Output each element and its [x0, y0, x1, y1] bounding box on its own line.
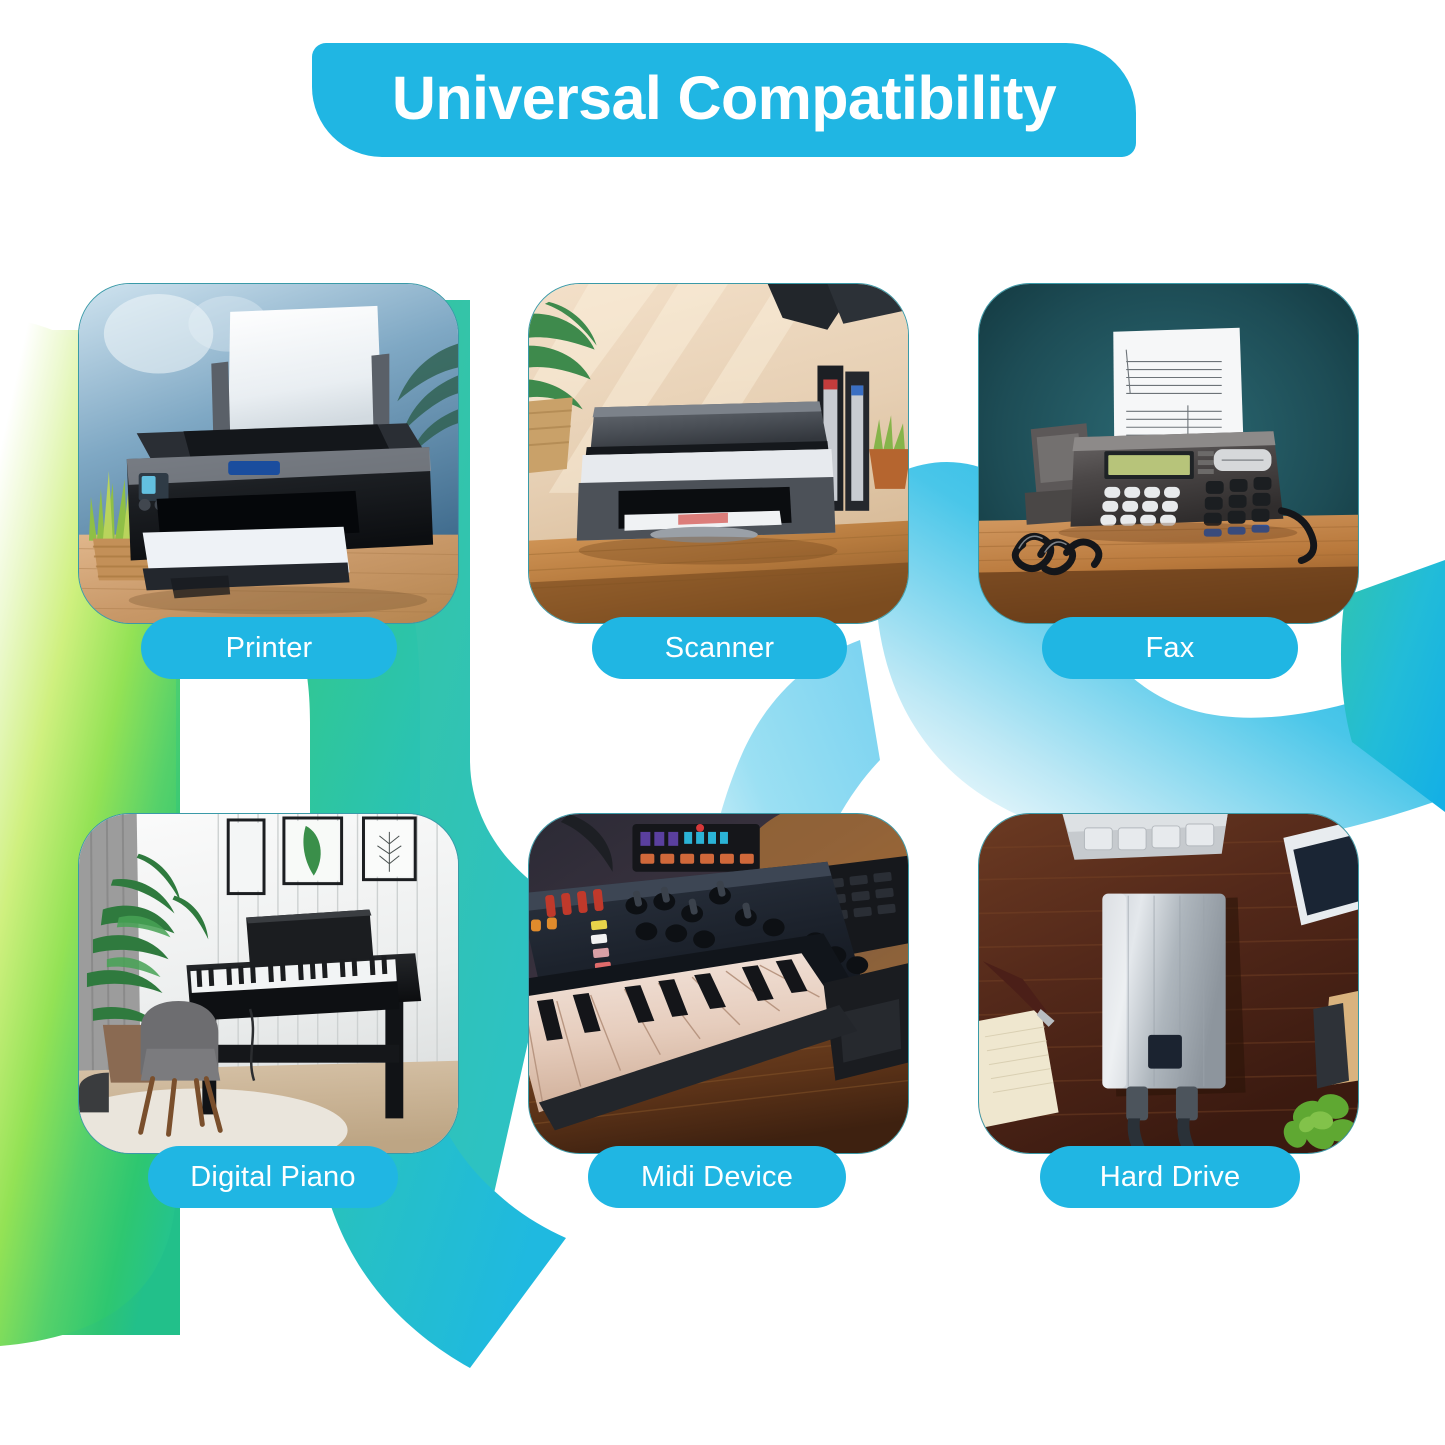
hard-drive-icon [979, 814, 1358, 1153]
card-midi-device[interactable] [528, 813, 909, 1154]
card-label-text: Scanner [665, 632, 774, 665]
card-label-scanner[interactable]: Scanner [592, 617, 847, 679]
compatibility-card-grid: Printer [0, 0, 1445, 1445]
card-label-digital-piano[interactable]: Digital Piano [148, 1146, 398, 1208]
printer-icon [79, 284, 458, 623]
card-label-printer[interactable]: Printer [141, 617, 397, 679]
fax-machine-icon [979, 284, 1358, 623]
scanner-icon [529, 284, 908, 623]
card-label-text: Digital Piano [190, 1161, 355, 1194]
card-label-hard-drive[interactable]: Hard Drive [1040, 1146, 1300, 1208]
card-hard-drive[interactable] [978, 813, 1359, 1154]
card-label-text: Midi Device [641, 1161, 793, 1194]
card-label-midi-device[interactable]: Midi Device [588, 1146, 846, 1208]
midi-keyboard-icon [529, 814, 908, 1153]
card-scanner[interactable] [528, 283, 909, 624]
page-title: Universal Compatibility [392, 68, 1056, 133]
card-label-fax[interactable]: Fax [1042, 617, 1298, 679]
card-label-text: Printer [226, 632, 313, 665]
page-title-banner: Universal Compatibility [312, 43, 1136, 157]
card-label-text: Fax [1146, 632, 1195, 665]
card-printer[interactable] [78, 283, 459, 624]
card-label-text: Hard Drive [1100, 1161, 1241, 1194]
card-fax[interactable] [978, 283, 1359, 624]
card-digital-piano[interactable] [78, 813, 459, 1154]
piano-icon [79, 814, 458, 1153]
